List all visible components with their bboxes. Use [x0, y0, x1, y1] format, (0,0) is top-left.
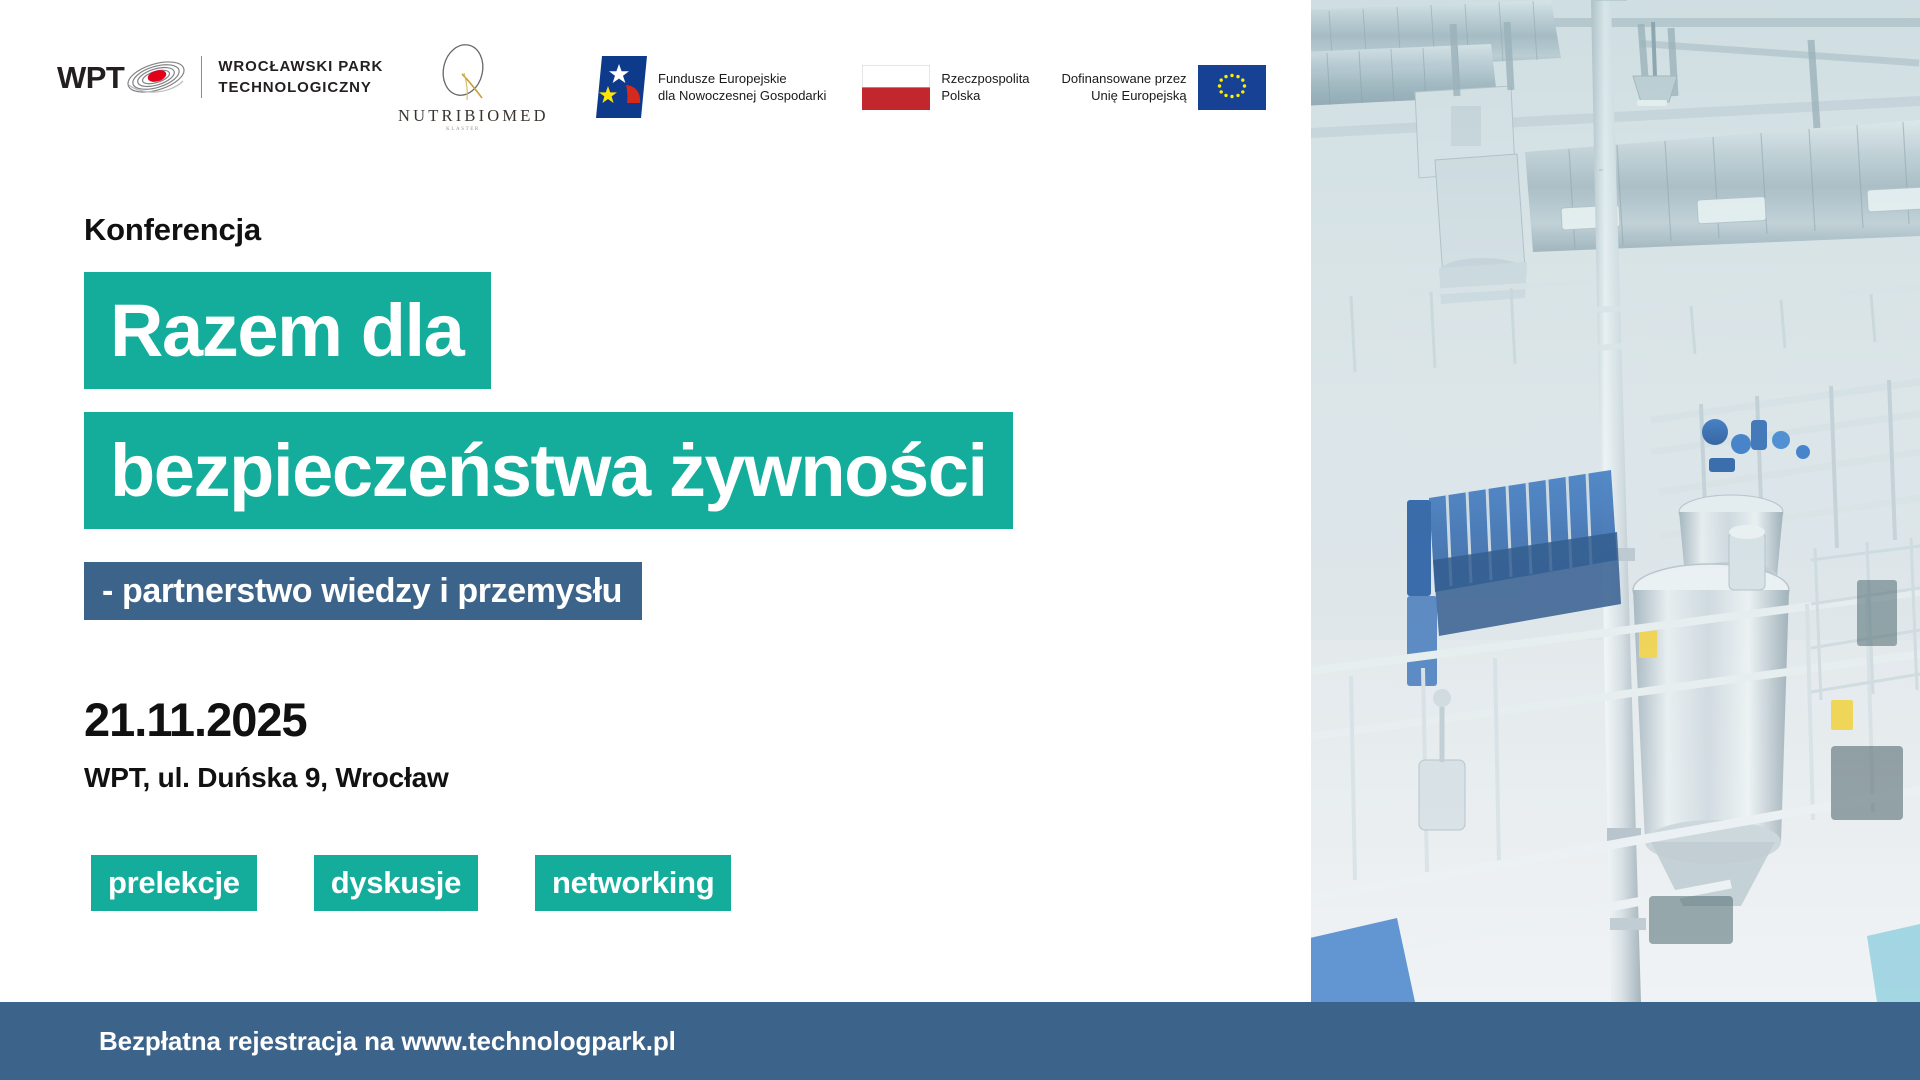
event-date: 21.11.2025 [84, 692, 307, 747]
tags-row: prelekcje dyskusje networking [91, 855, 731, 911]
tag-networking: networking [535, 855, 731, 911]
conference-poster: WPT WROCŁAWSKI PARK TECHNOLOGICZNY [0, 0, 1920, 1080]
nutribiomed-ellipse-icon [434, 42, 492, 105]
wpt-logo: WPT WROCŁAWSKI PARK TECHNOLOGICZNY [57, 55, 383, 99]
facility-photo-illustration [1311, 0, 1920, 1002]
subtitle-bar: - partnerstwo wiedzy i przemysłu [84, 562, 642, 620]
rzeczpospolita-polska-label: Rzeczpospolita Polska [941, 70, 1029, 104]
wpt-swirl-icon [125, 55, 187, 99]
title-line-2: bezpieczeństwa żywności [84, 412, 1013, 529]
tag-dyskusje: dyskusje [314, 855, 478, 911]
eu-funding-strip: Fundusze Europejskie dla Nowoczesnej Gos… [596, 56, 1266, 118]
wpt-acronym: WPT [57, 62, 124, 93]
fundusze-europejskie-line-2: dla Nowoczesnej Gospodarki [658, 87, 826, 104]
wpt-name-line-2: TECHNOLOGICZNY [218, 77, 383, 98]
rzeczpospolita-polska-line-2: Polska [941, 87, 1029, 104]
wpt-name-line-1: WROCŁAWSKI PARK [218, 56, 383, 77]
title-line-1: Razem dla [84, 272, 491, 389]
unia-europejska-line-2: Unię Europejską [1062, 87, 1187, 104]
funding-logo-unia-europejska: Dofinansowane przez Unię Europejską [1062, 65, 1266, 110]
nutribiomed-wordmark: NUTRIBIOMED [398, 106, 528, 126]
fundusze-europejskie-label: Fundusze Europejskie dla Nowoczesnej Gos… [658, 70, 826, 104]
funding-logo-fundusze-europejskie: Fundusze Europejskie dla Nowoczesnej Gos… [596, 56, 826, 118]
eu-flag-icon [1198, 65, 1266, 110]
unia-europejska-line-1: Dofinansowane przez [1062, 70, 1187, 87]
funding-logo-rzeczpospolita-polska: Rzeczpospolita Polska [862, 65, 1029, 110]
poland-flag-icon [862, 65, 930, 110]
fundusze-europejskie-line-1: Fundusze Europejskie [658, 70, 826, 87]
nutribiomed-logo: NUTRIBIOMED KLASTER [398, 42, 528, 132]
tag-prelekcje: prelekcje [91, 855, 257, 911]
wpt-name: WROCŁAWSKI PARK TECHNOLOGICZNY [218, 56, 383, 99]
footer-bar: Bezpłatna rejestracja na www.technologpa… [0, 1002, 1920, 1080]
unia-europejska-label: Dofinansowane przez Unię Europejską [1062, 70, 1187, 104]
fundusze-europejskie-flag-icon [596, 56, 647, 118]
logo-bar: WPT WROCŁAWSKI PARK TECHNOLOGICZNY [0, 0, 1311, 140]
wpt-logo-divider [201, 56, 202, 98]
facility-photo [1311, 0, 1920, 1002]
nutribiomed-subtitle: KLASTER [398, 127, 528, 132]
registration-text: Bezpłatna rejestracja na www.technologpa… [99, 1026, 676, 1057]
kicker-label: Konferencja [84, 212, 261, 248]
event-venue: WPT, ul. Duńska 9, Wrocław [84, 762, 449, 794]
rzeczpospolita-polska-line-1: Rzeczpospolita [941, 70, 1029, 87]
